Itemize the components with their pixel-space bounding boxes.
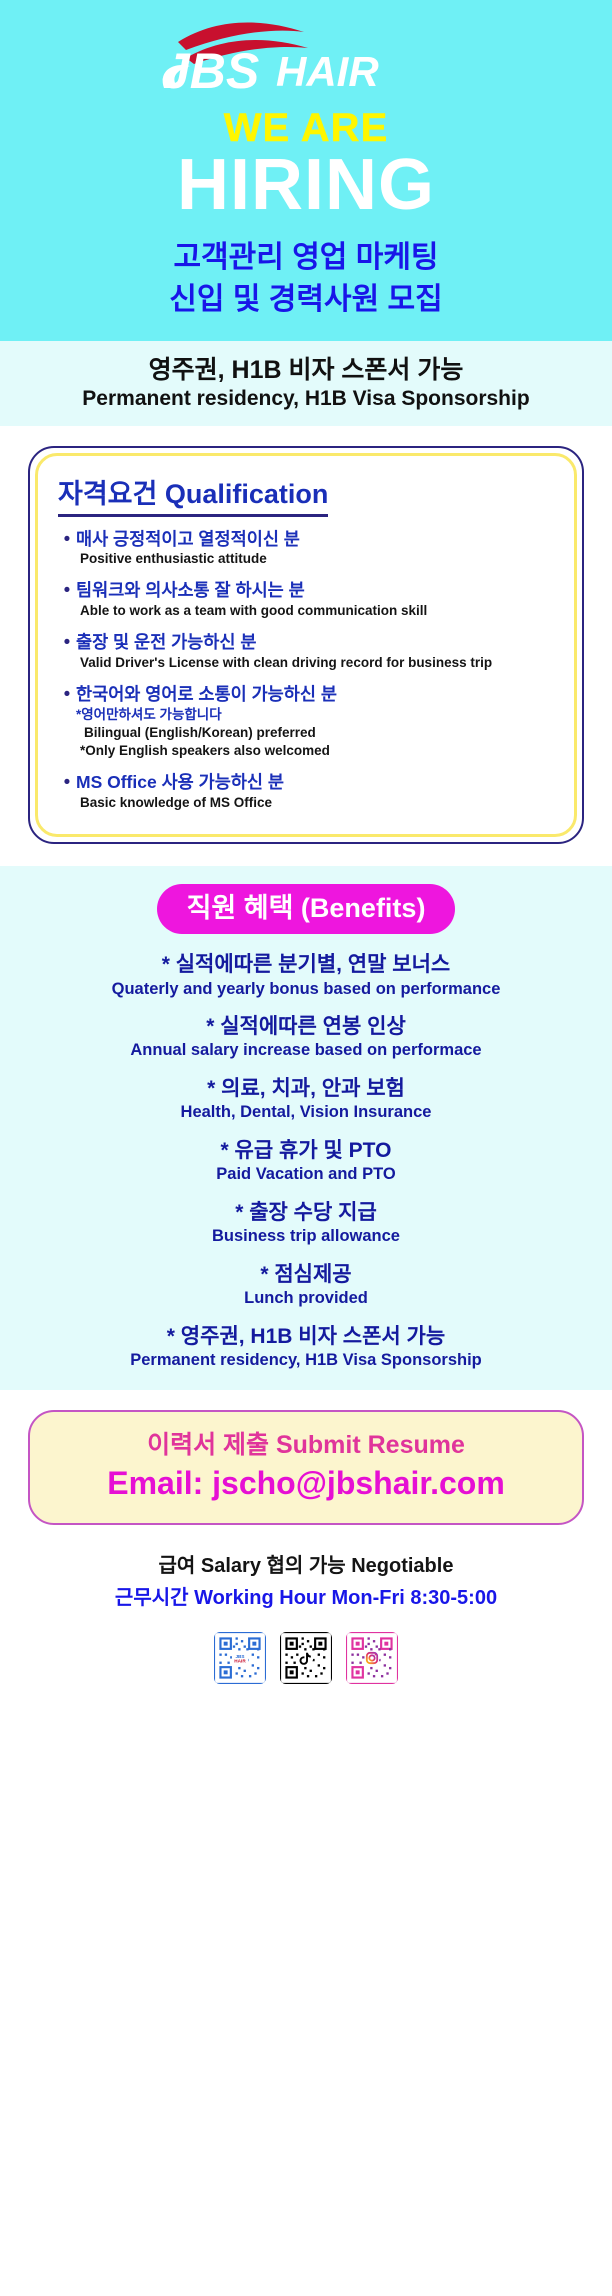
benefit-item: * 영주권, H1B 비자 스폰서 가능 Permanent residency… [0, 1324, 612, 1371]
qualification-title: 자격요건 Qualification [58, 472, 328, 517]
benefit-korean: * 의료, 치과, 안과 보험 [0, 1076, 612, 1102]
qualification-item: • 팀워크와 의사소통 잘 하시는 분 Able to work as a te… [58, 580, 556, 620]
position-korean-line2: 신입 및 경력사원 모집 [0, 281, 612, 319]
benefit-english: Health, Dental, Vision Insurance [0, 1102, 612, 1123]
salary-text: 급여 Salary 협의 가능 Negotiable [0, 1553, 612, 1580]
benefit-item: * 유급 휴가 및 PTO Paid Vacation and PTO [0, 1138, 612, 1185]
qr-code-website[interactable]: JBS HAIR [214, 1632, 266, 1684]
qualification-item-english: Bilingual (English/Korean) preferred [76, 724, 556, 742]
bullet-icon: • [58, 580, 76, 620]
benefit-english: Business trip allowance [0, 1226, 612, 1247]
qualification-item-english: Valid Driver's License with clean drivin… [76, 654, 556, 672]
qualification-item-korean: 팀워크와 의사소통 잘 하시는 분 [76, 580, 556, 602]
qualification-section: 자격요건 Qualification • 매사 긍정적이고 열정적이신 분 Po… [0, 426, 612, 866]
visa-english-text: Permanent residency, H1B Visa Sponsorshi… [0, 386, 612, 411]
benefit-item: * 점심제공 Lunch provided [0, 1262, 612, 1309]
benefit-item: * 실적에따른 분기별, 연말 보너스 Quaterly and yearly … [0, 952, 612, 999]
bullet-icon: • [58, 529, 76, 569]
svg-text:HAIR: HAIR [276, 48, 379, 94]
benefit-english: Lunch provided [0, 1288, 612, 1309]
resume-box: 이력서 제출 Submit Resume Email: jscho@jbshai… [28, 1410, 584, 1524]
qualification-item: • 매사 긍정적이고 열정적이신 분 Positive enthusiastic… [58, 529, 556, 569]
svg-text:HAIR: HAIR [234, 1658, 246, 1663]
qualification-box: 자격요건 Qualification • 매사 긍정적이고 열정적이신 분 Po… [28, 446, 584, 844]
hero-section: JBS HAIR WE ARE HIRING 고객관리 영업 마케팅 신입 및 … [0, 0, 612, 341]
qualification-item-english: Basic knowledge of MS Office [76, 794, 556, 812]
benefit-item: * 의료, 치과, 안과 보험 Health, Dental, Vision I… [0, 1076, 612, 1123]
benefit-item: * 실적에따른 연봉 인상 Annual salary increase bas… [0, 1014, 612, 1061]
logo-svg: JBS HAIR [156, 16, 456, 94]
qualification-item: • MS Office 사용 가능하신 분 Basic knowledge of… [58, 772, 556, 812]
qualification-box-inner: 자격요건 Qualification • 매사 긍정적이고 열정적이신 분 Po… [35, 453, 577, 837]
qualification-item: • 출장 및 운전 가능하신 분 Valid Driver's License … [58, 632, 556, 672]
bullet-icon: • [58, 684, 76, 760]
qualification-item-english-note: *Only English speakers also welcomed [76, 742, 556, 760]
visa-korean-text: 영주권, H1B 비자 스폰서 가능 [0, 355, 612, 385]
qualification-item-korean: MS Office 사용 가능하신 분 [76, 772, 556, 794]
recruitment-poster: JBS HAIR WE ARE HIRING 고객관리 영업 마케팅 신입 및 … [0, 0, 612, 2296]
qualification-item-korean: 한국어와 영어로 소통이 가능하신 분 [76, 684, 556, 706]
benefits-title-badge: 직원 혜택 (Benefits) [157, 884, 456, 934]
benefit-korean: * 실적에따른 분기별, 연말 보너스 [0, 952, 612, 978]
resume-title: 이력서 제출 Submit Resume [40, 1430, 572, 1460]
bullet-icon: • [58, 772, 76, 812]
jbs-hair-logo: JBS HAIR [0, 16, 612, 94]
qualification-item-english: Positive enthusiastic attitude [76, 550, 556, 568]
qr-code-tiktok[interactable] [280, 1632, 332, 1684]
qr-code-row: JBS HAIR [0, 1632, 612, 1684]
svg-text:JBS: JBS [162, 43, 259, 94]
benefit-korean: * 영주권, H1B 비자 스폰서 가능 [0, 1324, 612, 1350]
qualification-item-english: Able to work as a team with good communi… [76, 602, 556, 620]
position-korean-line1: 고객관리 영업 마케팅 [0, 239, 612, 277]
qualification-item: • 한국어와 영어로 소통이 가능하신 분 *영어만하셔도 가능합니다 Bili… [58, 684, 556, 760]
we-are-label: WE ARE [0, 108, 612, 148]
visa-sponsorship-band: 영주권, H1B 비자 스폰서 가능 Permanent residency, … [0, 341, 612, 425]
benefit-english: Paid Vacation and PTO [0, 1164, 612, 1185]
benefit-item: * 출장 수당 지급 Business trip allowance [0, 1200, 612, 1247]
benefit-korean: * 출장 수당 지급 [0, 1200, 612, 1226]
benefit-english: Quaterly and yearly bonus based on perfo… [0, 979, 612, 1000]
working-hours-text: 근무시간 Working Hour Mon-Fri 8:30-5:00 [0, 1585, 612, 1612]
resume-section: 이력서 제출 Submit Resume Email: jscho@jbshai… [0, 1390, 612, 1536]
bullet-icon: • [58, 632, 76, 672]
benefit-korean: * 유급 휴가 및 PTO [0, 1138, 612, 1164]
resume-email-link[interactable]: Email: jscho@jbshair.com [40, 1464, 572, 1502]
hiring-headline: HIRING [0, 150, 612, 221]
qualification-item-korean: 출장 및 운전 가능하신 분 [76, 632, 556, 654]
footer-section: 급여 Salary 협의 가능 Negotiable 근무시간 Working … [0, 1537, 612, 1694]
qualification-item-korean: 매사 긍정적이고 열정적이신 분 [76, 529, 556, 551]
qualification-item-korean-note: *영어만하셔도 가능합니다 [76, 706, 556, 724]
benefits-section: 직원 혜택 (Benefits) * 실적에따른 분기별, 연말 보너스 Qua… [0, 866, 612, 1390]
benefit-korean: * 실적에따른 연봉 인상 [0, 1014, 612, 1040]
benefit-korean: * 점심제공 [0, 1262, 612, 1288]
benefit-english: Permanent residency, H1B Visa Sponsorshi… [0, 1350, 612, 1371]
benefit-english: Annual salary increase based on performa… [0, 1040, 612, 1061]
qr-code-instagram[interactable] [346, 1632, 398, 1684]
